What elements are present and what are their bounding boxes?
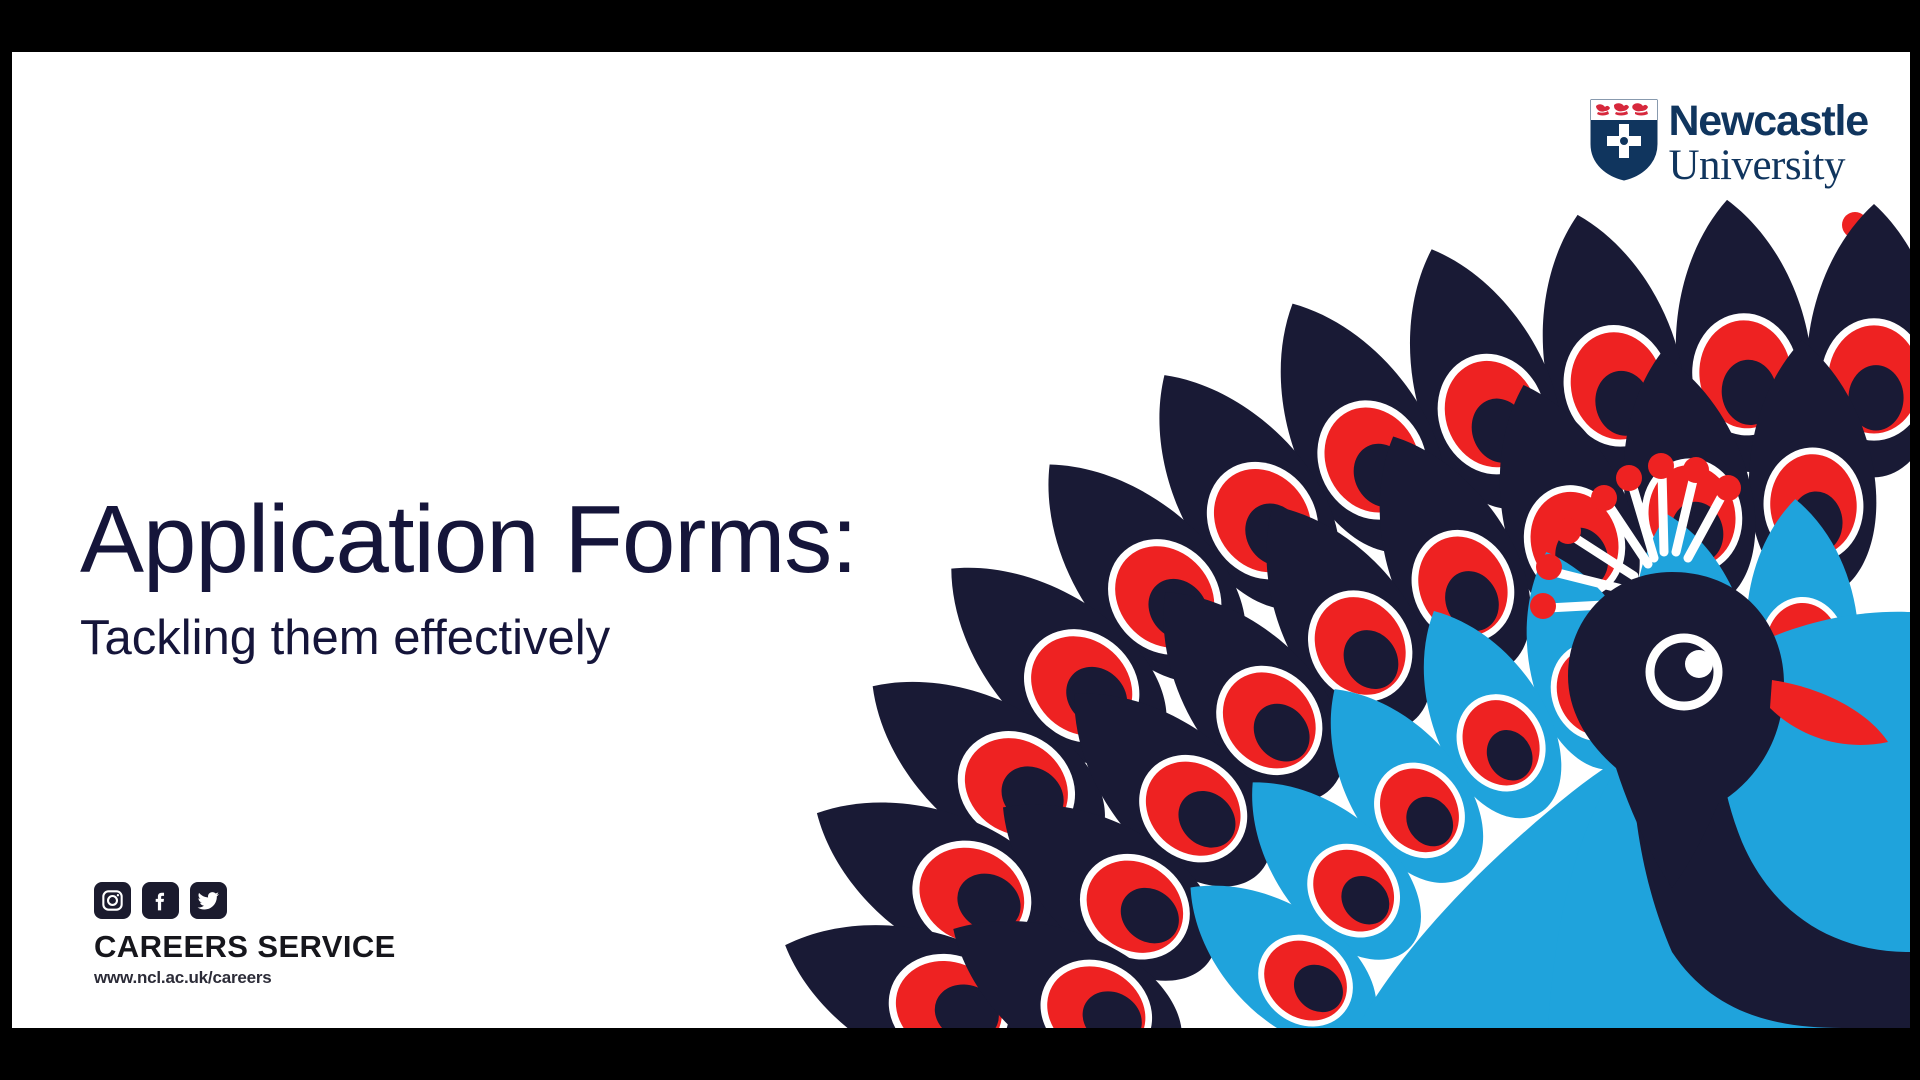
university-wordmark: Newcastle University bbox=[1668, 98, 1868, 187]
outer-feather-ring-secondary bbox=[922, 336, 1883, 1028]
wordmark-university: University bbox=[1668, 144, 1868, 187]
wordmark-newcastle: Newcastle bbox=[1668, 100, 1868, 143]
university-shield-icon bbox=[1589, 98, 1659, 182]
page-title: Application Forms: bbox=[80, 492, 1080, 588]
presentation-slide: Application Forms: Tackling them effecti… bbox=[12, 52, 1910, 1028]
page-subtitle: Tackling them effectively bbox=[80, 614, 1080, 663]
peacock-body-cyan bbox=[1357, 612, 1910, 1028]
department-name: CAREERS SERVICE bbox=[94, 931, 396, 962]
inner-feather-ring bbox=[1155, 496, 1863, 1028]
facebook-icon[interactable] bbox=[142, 882, 179, 919]
peacock-head bbox=[1530, 453, 1910, 1028]
instagram-icon[interactable] bbox=[94, 882, 131, 919]
twitter-icon[interactable] bbox=[190, 882, 227, 919]
screen: Application Forms: Tackling them effecti… bbox=[0, 0, 1920, 1080]
newcastle-university-logo: Newcastle University bbox=[1589, 98, 1868, 187]
title-block: Application Forms: Tackling them effecti… bbox=[80, 492, 1080, 663]
footer-branding: CAREERS SERVICE www.ncl.ac.uk/careers bbox=[94, 882, 396, 986]
careers-url: www.ncl.ac.uk/careers bbox=[94, 969, 396, 986]
social-links bbox=[94, 882, 396, 919]
